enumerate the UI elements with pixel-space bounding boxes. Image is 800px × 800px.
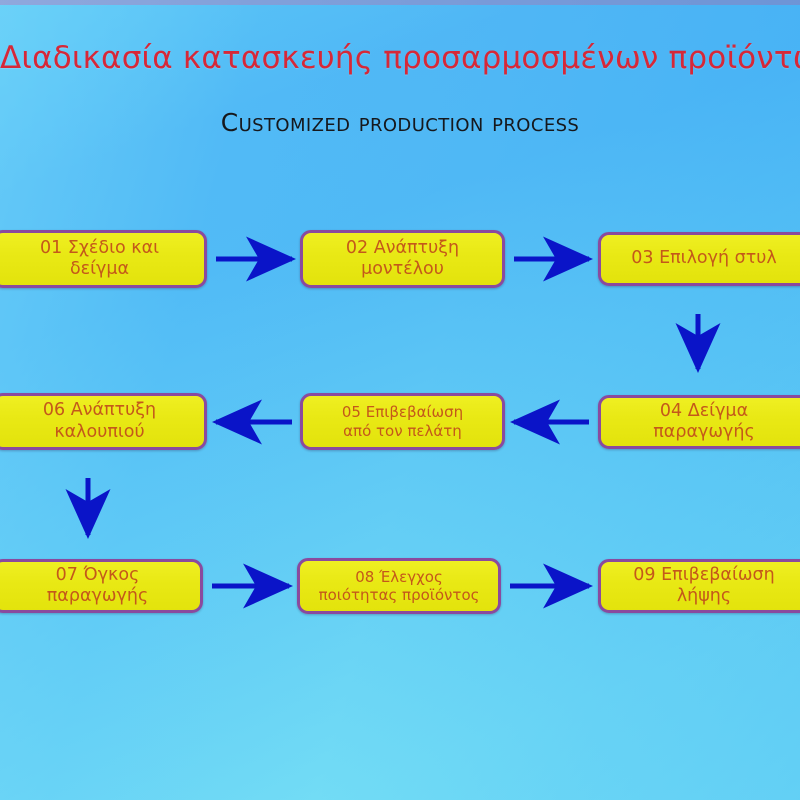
flow-arrows-layer [0, 0, 800, 800]
diagram-canvas: Διαδικασία κατασκευής προσαρμοσμένων προ… [0, 0, 800, 800]
